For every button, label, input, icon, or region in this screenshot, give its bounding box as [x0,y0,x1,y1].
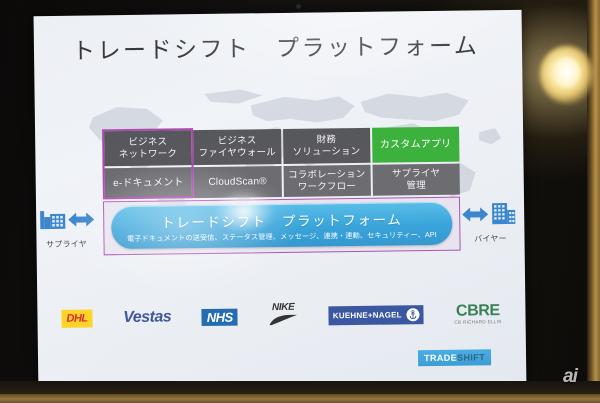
module-business-firewall[interactable]: ビジネス ファイヤウォール [193,129,281,165]
module-label-line1: CloudScan® [208,176,266,189]
bidirectional-arrow-icon [68,211,94,227]
logo-vestas: Vestas [123,308,171,327]
module-supplier-management[interactable]: サプライヤ 管理 [372,164,460,196]
module-label-line1: カスタムアプリ [380,138,452,151]
tradeshift-badge-dark: SHIFT [457,352,485,362]
photo-of-presentation-screen: トレードシフト プラットフォーム [0,0,600,403]
module-label-line2: ネットワーク [119,148,177,160]
anchor-icon [407,308,420,321]
camera-dot [296,4,301,9]
customer-logo-row: DHL Vestas NHS NIKE K [61,296,501,336]
cnet-watermark: ai [563,366,577,388]
logo-nike: NIKE [268,301,298,330]
bidirectional-arrow-icon [462,206,488,222]
module-label-line1: 財務 [317,135,337,146]
module-label-line1: ビジネス [218,136,257,148]
module-label-line1: e-ドキュメント [113,177,184,190]
logo-nike-text: NIKE [272,301,294,312]
logo-nhs: NHS [202,308,238,325]
module-label-line2: ワークフロー [298,181,356,193]
module-grid: ビジネス ネットワーク ビジネス ファイヤウォール 財務 ソリューション カスタ… [104,127,460,198]
factory-icon [38,207,68,233]
platform-title: トレードシフト プラットフォーム [161,208,402,231]
module-label-line1: サプライヤ [392,168,440,180]
module-finance-solution[interactable]: 財務 ソリューション [283,128,371,164]
platform-bar[interactable]: トレードシフト プラットフォーム 電子ドキュメントの送受信、ステータス管理、メッ… [111,202,453,249]
module-label-line2: 管理 [406,180,426,191]
logo-kuehne-nagel-text: KUEHNE+NAGEL [333,310,402,320]
tradeshift-badge-light: TRADE [424,353,457,363]
desk-edge [0,394,600,403]
module-label-line1: ビジネス [128,137,167,149]
lamp-core [553,58,581,88]
logo-vestas-text: Vestas [123,308,171,327]
module-custom-app[interactable]: カスタムアプリ [372,127,460,163]
logo-cbre-text: CBRE [456,302,500,321]
office-building-icon [488,201,518,227]
module-label-line2: ソリューション [293,145,361,157]
actor-supplier: サプライヤ [34,201,103,250]
platform-subtitle: 電子ドキュメントの送受信、ステータス管理、メッセージ、連携・連動、セキュリティー… [127,229,437,243]
actor-buyer-label: バイヤー [474,233,507,244]
module-label-line2: ファイヤウォール [198,147,275,159]
nike-swoosh-icon [268,312,298,330]
actor-supplier-label: サプライヤ [46,239,87,251]
logo-dhl: DHL [61,309,92,327]
tradeshift-footer-badge: TRADE SHIFT [418,349,491,366]
logo-dhl-text: DHL [66,313,87,325]
actor-buyer: バイヤー [454,196,527,245]
logo-nhs-text: NHS [207,309,233,324]
presentation-slide: トレードシフト プラットフォーム [34,10,527,394]
module-e-document[interactable]: e-ドキュメント [105,167,193,199]
platform-diagram: ビジネス ネットワーク ビジネス ファイヤウォール 財務 ソリューション カスタ… [34,10,527,394]
module-collaboration-workflow[interactable]: コラボレーション ワークフロー [283,165,371,197]
module-cloudscan[interactable]: CloudScan® [194,166,282,198]
logo-cbre: CBRE CB RICHARD ELLIS [454,302,501,325]
module-business-network[interactable]: ビジネス ネットワーク [104,130,192,166]
logo-cbre-subtitle: CB RICHARD ELLIS [454,319,501,325]
logo-kuehne-nagel: KUEHNE+NAGEL [329,305,424,325]
